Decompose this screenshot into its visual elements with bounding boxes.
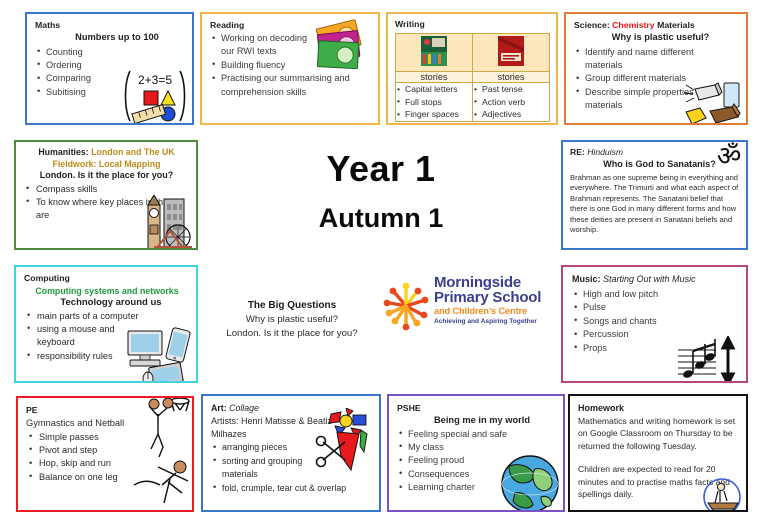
subject-box-re: RE: Hinduism Who is God to Sanatanis? Br… <box>561 140 748 250</box>
list-item: Feeling special and safe <box>397 428 557 441</box>
computing-unit-line: Technology around us <box>24 297 190 309</box>
humanities-title-prefix: Humanities: <box>38 147 88 157</box>
list-item: Practising our summarising and comprehen… <box>210 72 371 99</box>
reading-books-icon <box>315 19 373 73</box>
materials-samples-icon <box>682 79 744 125</box>
big-questions-block: The Big Questions Why is plastic useful?… <box>212 300 372 341</box>
list-item: Full stops <box>396 96 472 109</box>
list-item: Compass skills <box>23 183 190 196</box>
music-notes-icon <box>676 336 738 383</box>
subject-box-pe: PE Gymnastics and Netball Simple passes … <box>16 396 194 512</box>
list-item: Past tense <box>473 83 549 96</box>
subject-box-homework: Homework Mathematics and writing homewor… <box>568 394 748 512</box>
list-item: Identify and name different materials <box>574 46 725 73</box>
table-row: stories stories <box>396 72 550 83</box>
re-title-topic: Hinduism <box>587 147 623 157</box>
logo-line-2: Primary School <box>434 291 541 306</box>
art-title-prefix: Art: <box>211 403 227 413</box>
humanities-title-topic: London and The UK <box>91 147 175 157</box>
subject-box-humanities: Humanities: London and The UK Fieldwork:… <box>14 140 198 250</box>
subject-box-science: Science: Chemistry Materials Why is plas… <box>564 12 748 125</box>
page-title-term: Autumn 1 <box>246 203 516 234</box>
pshe-subtitle: Being me in my world <box>397 415 557 427</box>
homework-paragraph-1: Mathematics and writing homework is set … <box>578 415 739 452</box>
subject-box-writing: Writing <box>386 12 558 125</box>
science-title-suffix: Materials <box>657 20 695 30</box>
writing-title: Writing <box>395 19 550 30</box>
book-cover-one-icon <box>396 34 473 72</box>
list-item: Action verb <box>473 96 549 109</box>
list-item: main parts of a computer <box>24 310 190 323</box>
big-questions-title: The Big Questions <box>212 300 372 311</box>
pupil-at-desk-icon <box>700 475 744 512</box>
humanities-fieldwork: Fieldwork: Local Mapping <box>23 159 190 170</box>
computing-title: Computing <box>24 273 190 284</box>
science-title: Science: Chemistry Materials <box>574 20 739 31</box>
maths-subtitle: Numbers up to 100 <box>35 32 185 44</box>
re-title-prefix: RE: <box>570 147 585 157</box>
science-title-prefix: Science: <box>574 20 610 30</box>
list-item: fold, crumple, tear cut & overlap <box>211 482 373 495</box>
maths-equation-shapes-icon: 2+3=5 <box>122 67 188 125</box>
subject-box-reading: Reading Working on decoding our RWI text… <box>200 12 380 125</box>
humanities-question: London. Is it the place for you? <box>23 170 190 182</box>
list-item: Finger spaces <box>396 108 472 121</box>
big-question-2: London. Is it the place for you? <box>212 327 372 341</box>
writing-col-label: stories <box>473 72 550 83</box>
netball-figures-icon <box>118 396 194 507</box>
collage-scissors-icon <box>315 408 377 474</box>
computing-subject-line: Computing systems and networks <box>24 285 190 297</box>
subject-box-art: Art: Collage Artists: Henri Matisse & Be… <box>201 394 381 512</box>
writing-col-label: stories <box>396 72 473 83</box>
writing-col-items: Past tense Action verb Adjectives <box>473 83 550 122</box>
computer-devices-icon <box>126 327 194 383</box>
list-item: Counting <box>35 46 185 59</box>
svg-text:ॐ: ॐ <box>717 141 742 172</box>
re-body: Brahman as one supreme being in everythi… <box>570 173 739 237</box>
subject-box-computing: Computing Computing systems and networks… <box>14 265 198 383</box>
list-item: Capital letters <box>396 83 472 96</box>
list-item: Working on decoding our RWI texts <box>210 32 313 59</box>
writing-table: stories stories Capital letters Full sto… <box>395 33 550 122</box>
subject-box-maths: Maths Numbers up to 100 Counting Orderin… <box>25 12 194 125</box>
svg-text:2+3=5: 2+3=5 <box>138 73 172 87</box>
curriculum-overview-page: Maths Numbers up to 100 Counting Orderin… <box>0 0 768 526</box>
globe-icon <box>499 453 561 512</box>
homework-title: Homework <box>578 403 739 414</box>
book-cover-two-icon <box>473 34 550 72</box>
list-item: Adjectives <box>473 108 549 121</box>
science-title-highlight: Chemistry <box>612 20 655 30</box>
subject-box-pshe: PSHE Being me in my world Feeling specia… <box>387 394 565 512</box>
table-row: Capital letters Full stops Finger spaces… <box>396 83 550 122</box>
pshe-title: PSHE <box>397 403 557 414</box>
music-title-prefix: Music: <box>572 274 601 284</box>
big-question-1: Why is plastic useful? <box>212 313 372 327</box>
school-logo: Morningside Primary School and Children'… <box>378 276 556 338</box>
science-subtitle: Why is plastic useful? <box>574 32 739 44</box>
logo-line-4: Achieving and Aspiring Together <box>434 317 541 327</box>
list-item: Pulse <box>572 301 739 314</box>
music-title: Music: Starting Out with Music <box>572 274 739 285</box>
logo-line-3: and Children's Centre <box>434 305 541 317</box>
london-landmarks-icon <box>126 195 198 250</box>
om-symbol-icon: ॐ <box>712 140 746 172</box>
list-item: Songs and chants <box>572 315 739 328</box>
writing-col-items: Capital letters Full stops Finger spaces <box>396 83 473 122</box>
humanities-title: Humanities: London and The UK <box>23 147 190 158</box>
music-title-topic: Starting Out with Music <box>603 274 696 284</box>
art-title-topic: Collage <box>229 403 259 413</box>
school-logo-mark-icon <box>378 278 434 339</box>
list-item: High and low pitch <box>572 288 739 301</box>
subject-box-music: Music: Starting Out with Music High and … <box>561 265 748 383</box>
table-row <box>396 34 550 72</box>
maths-title: Maths <box>35 20 185 31</box>
page-title-year: Year 1 <box>246 148 516 190</box>
school-logo-text: Morningside Primary School and Children'… <box>434 276 541 327</box>
